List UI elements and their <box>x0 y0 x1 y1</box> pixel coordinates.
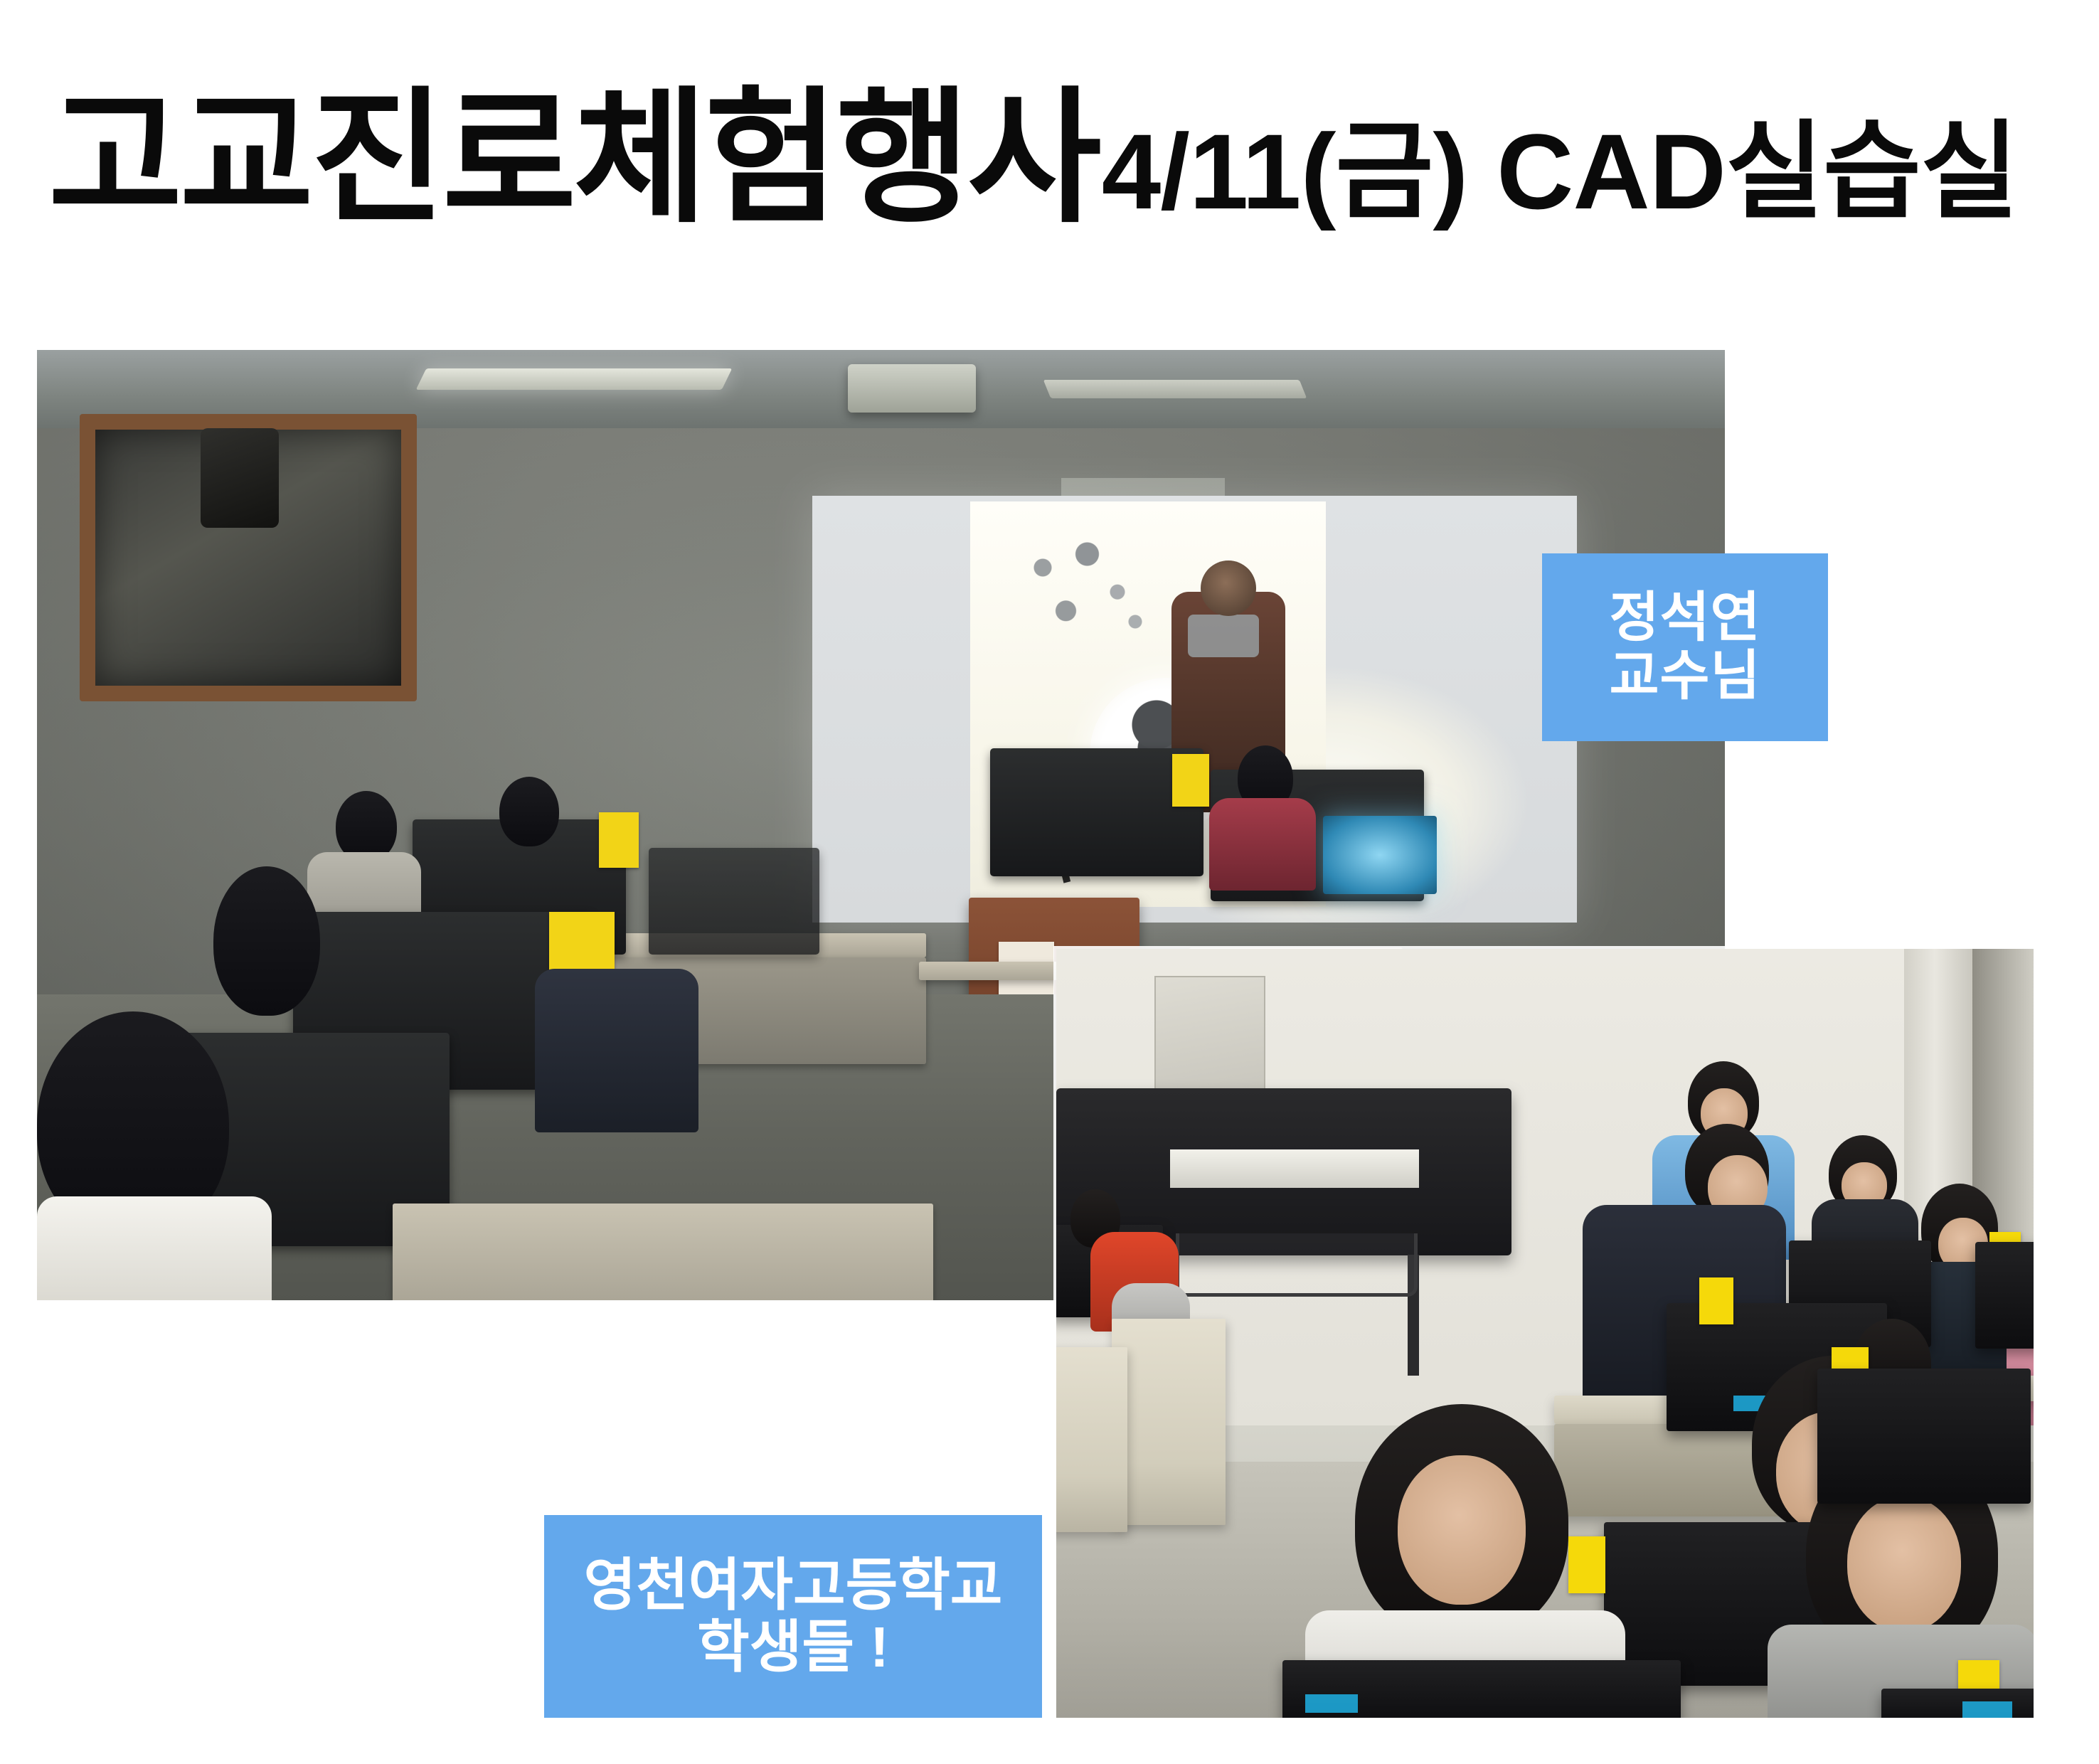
asset-tag <box>1962 1701 2012 1718</box>
title-subtitle-text: 4/11(금) CAD실습실 <box>1102 118 2018 225</box>
monitor <box>1817 1369 2031 1504</box>
label-professor: 정석연 교수님 <box>1542 553 1828 741</box>
photo-cad-lab <box>1056 949 2034 1718</box>
plotter-catch-basket <box>1176 1233 1418 1297</box>
monitor <box>990 748 1203 876</box>
poster-canvas: 고교진로체험행사 4/11(금) CAD실습실 <box>0 0 2099 1764</box>
label-students-line1: 영천여자고등학교 <box>584 1555 1003 1616</box>
student-head <box>499 777 559 846</box>
sticky-note <box>1568 1536 1605 1593</box>
student-face <box>1847 1497 1961 1632</box>
monitor <box>649 848 819 955</box>
slide-graphic-cluster <box>1007 527 1185 662</box>
ceiling-light-icon <box>1043 380 1307 398</box>
student-face <box>1398 1455 1526 1605</box>
student-torso <box>535 969 698 1132</box>
cabinet <box>1112 1319 1226 1525</box>
plotter-paper-slot <box>1170 1149 1419 1188</box>
speaker-icon <box>201 428 279 528</box>
ceiling-light-icon <box>416 368 733 390</box>
sticky-note <box>599 812 639 868</box>
title-main-text: 고교진로체험행사 <box>48 85 1099 231</box>
wall-control-panel <box>1154 976 1265 1093</box>
projector-icon <box>848 364 976 413</box>
instructor-head <box>1201 560 1256 616</box>
instructor-scarf <box>1188 615 1259 657</box>
label-students: 영천여자고등학교 학생들 ! <box>544 1515 1042 1718</box>
student-head <box>213 866 320 1016</box>
monitor-glow <box>1323 816 1437 894</box>
label-students-line2: 학생들 ! <box>697 1617 889 1678</box>
label-professor-line2: 교수님 <box>1610 647 1761 706</box>
asset-tag <box>1305 1694 1358 1713</box>
sticky-note <box>1172 754 1209 807</box>
sticky-note <box>1699 1277 1733 1324</box>
student-torso <box>1209 798 1316 891</box>
monitor <box>1975 1242 2034 1349</box>
desk <box>393 1204 933 1300</box>
page-title: 고교진로체험행사 4/11(금) CAD실습실 <box>48 85 2068 256</box>
student-head <box>336 791 397 862</box>
cabinet <box>1056 1347 1127 1532</box>
student-torso <box>37 1196 272 1300</box>
label-professor-line1: 정석연 <box>1610 589 1761 647</box>
